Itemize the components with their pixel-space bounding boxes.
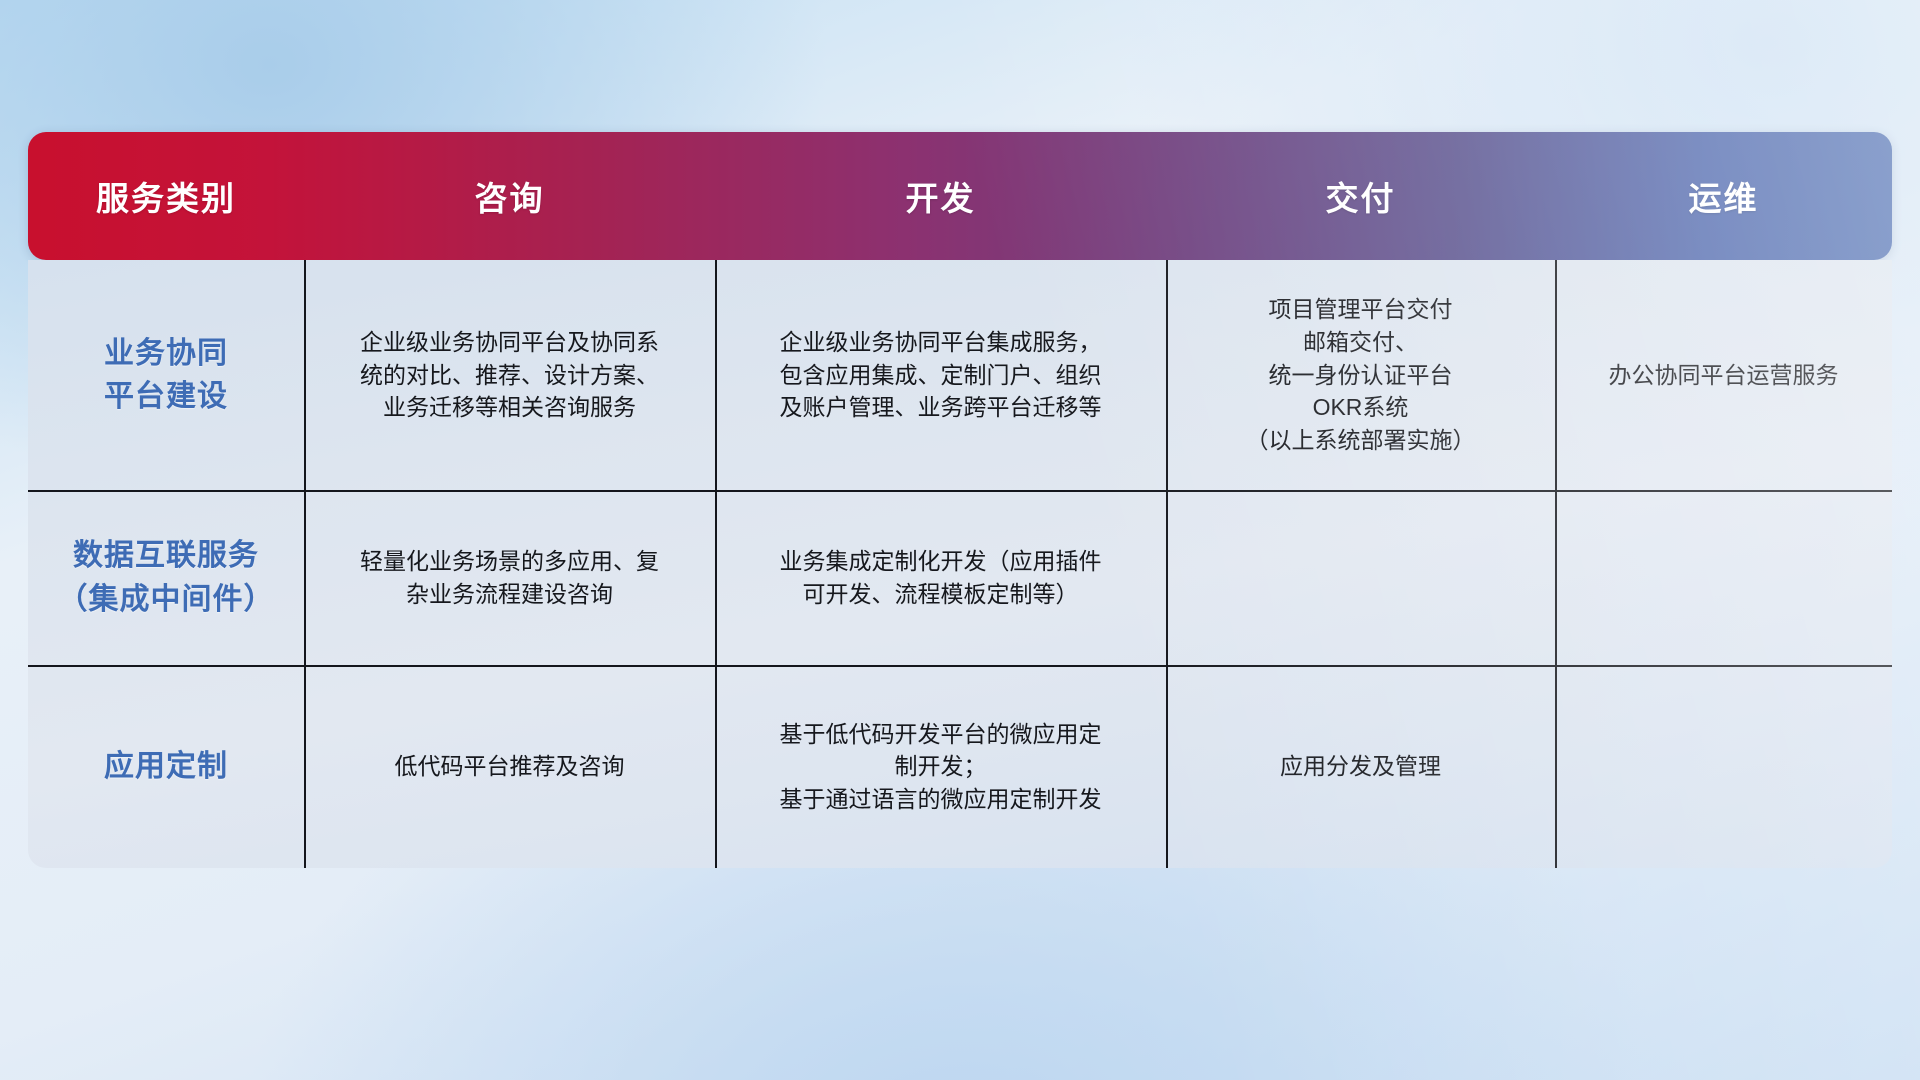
column-header-label: 咨询 [475,172,545,220]
cell-operations: 办公协同平台运营服务 [1555,260,1892,490]
table-header-row: 服务类别 咨询 开发 交付 运维 [28,132,1892,260]
cell-text: 办公协同平台运营服务 [1609,359,1839,392]
cell-text: 企业级业务协同平台集成服务， 包含应用集成、定制门户、组织 及账户管理、业务跨平… [780,326,1102,424]
row-header-cell: 业务协同 平台建设 [28,260,304,490]
cell-consulting: 轻量化业务场景的多应用、复 杂业务流程建设咨询 [304,490,715,665]
table-row: 应用定制 低代码平台推荐及咨询 基于低代码开发平台的微应用定 制开发； 基于通过… [28,665,1892,868]
cell-delivery: 应用分发及管理 [1166,665,1555,868]
row-header-cell: 数据互联服务 （集成中间件） [28,490,304,665]
cell-text: 应用分发及管理 [1280,750,1441,783]
row-header-cell: 应用定制 [28,665,304,868]
cell-development: 企业级业务协同平台集成服务， 包含应用集成、定制门户、组织 及账户管理、业务跨平… [715,260,1166,490]
row-label: 业务协同 平台建设 [104,332,228,419]
cell-delivery: 项目管理平台交付 邮箱交付、 统一身份认证平台 OKR系统 （以上系统部署实施） [1166,260,1555,490]
row-label: 应用定制 [104,745,228,789]
cell-text: 轻量化业务场景的多应用、复 杂业务流程建设咨询 [360,545,659,610]
table-body: 业务协同 平台建设 企业级业务协同平台及协同系 统的对比、推荐、设计方案、 业务… [28,260,1892,868]
page-root: 服务类别 咨询 开发 交付 运维 业务协同 平台建设 [0,0,1920,1080]
cell-operations [1555,490,1892,665]
column-header-label: 交付 [1326,172,1396,220]
column-header-operations: 运维 [1555,132,1892,260]
cell-text: 业务集成定制化开发（应用插件 可开发、流程模板定制等） [780,545,1102,610]
cell-text: 项目管理平台交付 邮箱交付、 统一身份认证平台 OKR系统 （以上系统部署实施） [1246,293,1476,456]
cell-text: 基于低代码开发平台的微应用定 制开发； 基于通过语言的微应用定制开发 [780,718,1102,816]
column-header-label: 运维 [1689,172,1759,220]
cell-development: 基于低代码开发平台的微应用定 制开发； 基于通过语言的微应用定制开发 [715,665,1166,868]
column-header-delivery: 交付 [1166,132,1555,260]
service-matrix-table: 服务类别 咨询 开发 交付 运维 业务协同 平台建设 [28,132,1892,868]
cell-text: 企业级业务协同平台及协同系 统的对比、推荐、设计方案、 业务迁移等相关咨询服务 [360,326,659,424]
column-header-label: 开发 [906,172,976,220]
table-row: 业务协同 平台建设 企业级业务协同平台及协同系 统的对比、推荐、设计方案、 业务… [28,260,1892,490]
row-label: 数据互联服务 （集成中间件） [58,534,275,621]
cell-text: 低代码平台推荐及咨询 [395,750,625,783]
column-header-consulting: 咨询 [304,132,715,260]
column-header-label: 服务类别 [96,172,236,220]
cell-operations [1555,665,1892,868]
cell-development: 业务集成定制化开发（应用插件 可开发、流程模板定制等） [715,490,1166,665]
column-header-service-category: 服务类别 [28,132,304,260]
cell-consulting: 企业级业务协同平台及协同系 统的对比、推荐、设计方案、 业务迁移等相关咨询服务 [304,260,715,490]
column-header-development: 开发 [715,132,1166,260]
table-row: 数据互联服务 （集成中间件） 轻量化业务场景的多应用、复 杂业务流程建设咨询 业… [28,490,1892,665]
cell-consulting: 低代码平台推荐及咨询 [304,665,715,868]
cell-delivery [1166,490,1555,665]
